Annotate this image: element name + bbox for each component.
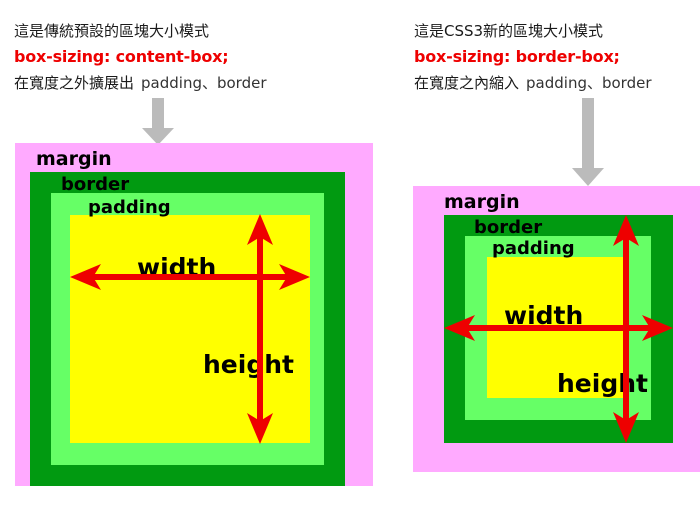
left-label-margin: margin: [36, 150, 112, 169]
left-label-border: border: [61, 176, 129, 194]
right-caption-line-3-tail: padding、border: [526, 74, 651, 92]
right-label-border: border: [474, 219, 542, 237]
right-caption-line-3-main: 在寬度之內縮入: [414, 74, 519, 92]
right-label-margin: margin: [444, 193, 520, 212]
right-label-padding: padding: [492, 240, 575, 258]
left-label-padding: padding: [88, 199, 171, 217]
right-down-arrow-icon: [570, 98, 606, 192]
right-caption-block: 這是CSS3新的區塊大小模式 box-sizing: border-box; 在…: [414, 18, 652, 96]
left-caption-line-1: 這是傳統預設的區塊大小模式: [14, 18, 267, 44]
left-caption-block: 這是傳統預設的區塊大小模式 box-sizing: content-box; 在…: [14, 18, 267, 96]
right-label-width: width: [504, 303, 583, 328]
left-content-box: [70, 215, 310, 443]
left-border-box: [30, 172, 345, 486]
left-padding-box: [51, 193, 324, 465]
left-caption-line-3-main: 在寬度之外擴展出: [14, 74, 134, 92]
left-label-height: height: [203, 352, 294, 377]
right-caption-code: box-sizing: border-box;: [414, 44, 652, 70]
left-caption-code: box-sizing: content-box;: [14, 44, 267, 70]
left-label-width: width: [137, 255, 216, 280]
left-caption-line-3: 在寬度之外擴展出padding、border: [14, 70, 267, 96]
left-caption-line-3-tail: padding、border: [141, 74, 266, 92]
right-label-height: height: [557, 371, 648, 396]
right-caption-line-1: 這是CSS3新的區塊大小模式: [414, 18, 652, 44]
right-caption-line-3: 在寬度之內縮入padding、border: [414, 70, 652, 96]
